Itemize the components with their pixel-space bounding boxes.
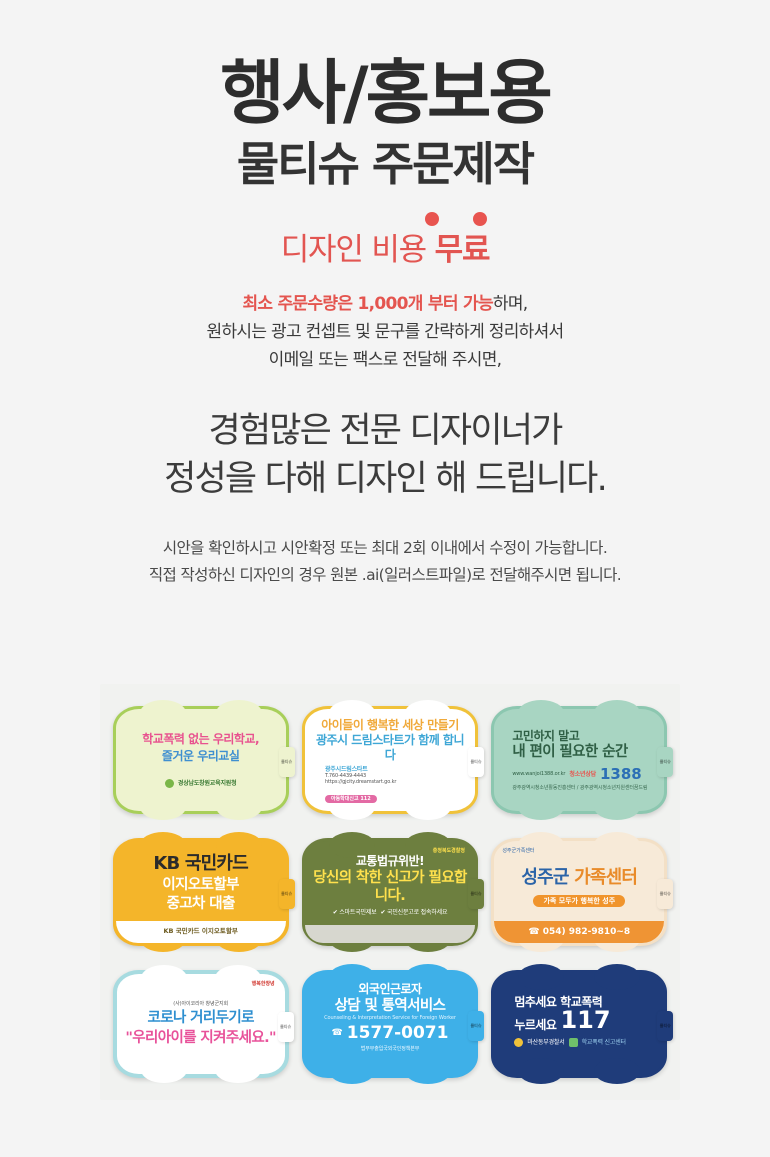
pack-tab-icon: 물티슈 <box>279 747 295 777</box>
gallery-cell: 물티슈 충청북도경찰청 교통법규위반! 당신의 착한 신고가 필요합니다. ✔ … <box>295 826 484 958</box>
card-org-badge: 충청북도경찰청 <box>433 848 465 854</box>
card-org: 법무부출입국외국인정책본부 <box>313 1046 467 1052</box>
card-title-line2: 중고차 대출 <box>124 896 278 913</box>
pitch-line-1: 경험많은 전문 디자이너가 <box>0 408 770 456</box>
card-title-line1: 아이들이 행복한 세상 만들기 <box>313 718 467 732</box>
card-url: www.wanjoi1388.or.kr <box>512 771 565 777</box>
pack-tab-icon: 물티슈 <box>468 747 484 777</box>
hero-section: 행사/홍보용 물티슈 주문제작 <box>0 0 770 188</box>
card-check-1: ✔ 스마트국민제보 <box>333 909 377 916</box>
card-title-line1: 이지오토할부 <box>124 877 278 894</box>
spec-min-order-highlight: 최소 주문수량은 1,000개 부터 가능 <box>242 294 492 314</box>
card-title-line1: 코로나 거리두기로 <box>125 1010 277 1027</box>
gallery-cell: 물티슈 KB 국민카드 이지오토할부 중고차 대출 KB 국민카드 이지오토할부 <box>106 826 295 958</box>
promo-page: 행사/홍보용 물티슈 주문제작 디자인 비용 무료 최소 주문수량은 1,000… <box>0 0 770 1157</box>
footnote-line-1: 시안을 확인하시고 시안확정 또는 최대 2회 이내에서 수정이 가능합니다. <box>0 535 770 562</box>
card-title-line1: 외국인근로자 <box>313 982 467 996</box>
product-card-school-violence-gyeongnam[interactable]: 물티슈 학교폭력 없는 우리학교, 즐거운 우리교실 경상남도창원교육지원청 <box>113 706 289 814</box>
card-title-line2: 내 편이 필요한 순간 <box>512 744 656 761</box>
pack-tab-icon: 물티슈 <box>278 1012 294 1042</box>
card-subtitle-en: Counseling & Interpretation Service for … <box>313 1015 467 1021</box>
footnote-paragraph: 시안을 확인하시고 시안확정 또는 최대 2회 이내에서 수정이 가능합니다. … <box>0 535 770 588</box>
sample-gallery-grid: 물티슈 학교폭력 없는 우리학교, 즐거운 우리교실 경상남도창원교육지원청 <box>100 684 680 1100</box>
card-title-line2: 누르세요 <box>514 1018 556 1032</box>
card-url: https://gjcity.dreamstart.go.kr <box>325 779 467 785</box>
card-title-line2: 상담 및 통역서비스 <box>313 998 467 1015</box>
free-design-line: 디자인 비용 무료 <box>281 232 490 269</box>
card-phone: 1577-0071 <box>347 1023 449 1043</box>
gallery-cell: 물티슈 아이들이 행복한 세상 만들기 광주시 드림스타트가 함께 합니다 광주… <box>295 694 484 826</box>
card-org: 광주시드림스타트 <box>325 766 467 773</box>
card-badge: 행복한창녕 <box>252 981 275 987</box>
card-title-line1: 고민하지 말고 <box>512 729 656 743</box>
card-brand: 청소년상담 <box>569 771 596 778</box>
free-design-block: 디자인 비용 무료 <box>0 232 770 269</box>
card-phone: ☎ 054) 982-9810~8 <box>528 927 630 938</box>
pitch-line-2: 정성을 다해 디자인 해 드립니다. <box>0 456 770 504</box>
gallery-cell: 물티슈 멈추세요 학교폭력 누르세요 117 마산동부경찰서 학교폭력 신고센터 <box>485 958 674 1090</box>
pack-tab-icon: 물티슈 <box>657 1011 673 1041</box>
card-title-line1: 교통법규위반! <box>313 854 467 868</box>
card-brand: KB 국민카드 <box>124 853 278 875</box>
pitch-paragraph: 경험많은 전문 디자이너가 정성을 다해 디자인 해 드립니다. <box>0 408 770 503</box>
pack-tab-icon: 물티슈 <box>657 879 673 909</box>
free-design-strong: 무료 <box>435 232 490 268</box>
org-logo-icon <box>165 779 174 788</box>
police-logo-icon <box>514 1038 523 1047</box>
card-title-line1: 학교폭력 없는 우리학교, <box>124 732 278 746</box>
spec-line-2: 원하시는 광고 컨셉트 및 문구를 간략하게 정리하셔서 <box>0 319 770 347</box>
gallery-cell: 물티슈 행복한창녕 (사)아이코리아 창녕군지회 코로나 거리두기로 "우리아이… <box>106 958 295 1090</box>
pack-tab-icon: 물티슈 <box>468 1011 484 1041</box>
card-road-strip <box>305 925 475 943</box>
spec-paragraph: 최소 주문수량은 1,000개 부터 가능하며, 원하시는 광고 컨셉트 및 문… <box>0 291 770 374</box>
card-org-2: 학교폭력 신고센터 <box>582 1039 626 1046</box>
card-phone-strip: ☎ 054) 982-9810~8 <box>494 921 664 943</box>
spec-line-3: 이메일 또는 팩스로 전달해 주시면, <box>0 347 770 375</box>
card-footer-org: 광주광역시청소년활동진흥센터 / 광주광역시청소년지원센터꿈드림 <box>512 785 656 791</box>
gallery-cell: 물티슈 성주군가족센터 성주군 가족센터 가족 모두가 행복한 성주 ☎ 054… <box>485 826 674 958</box>
card-hotline-number: 117 <box>560 1010 610 1032</box>
pack-tab-icon: 물티슈 <box>468 879 484 909</box>
spec-line-1: 최소 주문수량은 1,000개 부터 가능하며, <box>0 291 770 319</box>
free-design-lead: 디자인 비용 <box>281 232 435 268</box>
card-title: 성주군 가족센터 <box>502 867 656 889</box>
product-card-seongju-family-center[interactable]: 물티슈 성주군가족센터 성주군 가족센터 가족 모두가 행복한 성주 ☎ 054… <box>491 838 667 946</box>
page-subtitle: 물티슈 주문제작 <box>0 140 770 188</box>
product-card-youth-1388[interactable]: 물티슈 고민하지 말고 내 편이 필요한 순간 www.wanjoi1388.o… <box>491 706 667 814</box>
card-footer-org: 경상남도창원교육지원청 <box>178 780 237 787</box>
pack-tab-icon: 물티슈 <box>279 879 295 909</box>
sample-gallery-panel: 물티슈 학교폭력 없는 우리학교, 즐거운 우리교실 경상남도창원교육지원청 <box>100 684 680 1100</box>
card-org-1: 마산동부경찰서 <box>527 1039 564 1046</box>
product-card-corona-childcare[interactable]: 물티슈 행복한창녕 (사)아이코리아 창녕군지회 코로나 거리두기로 "우리아이… <box>113 970 289 1078</box>
card-title-line2: 광주시 드림스타트가 함께 합니다 <box>313 733 467 762</box>
card-org: (사)아이코리아 창녕군지회 <box>125 1001 277 1007</box>
card-title-line2: 당신의 착한 신고가 필요합니다. <box>313 870 467 905</box>
product-card-117-school-violence[interactable]: 물티슈 멈추세요 학교폭력 누르세요 117 마산동부경찰서 학교폭력 신고센터 <box>491 970 667 1078</box>
card-hotline-number: 1388 <box>600 765 642 783</box>
card-check-2: ✔ 국민신문고로 접속하세요 <box>380 909 447 916</box>
page-title: 행사/홍보용 <box>0 58 770 128</box>
card-org-badge: 성주군가족센터 <box>502 848 534 854</box>
card-pill: 가족 모두가 행복한 성주 <box>533 895 625 907</box>
card-pill: 아동학대신고 112 <box>325 795 377 803</box>
card-bottom-strip: KB 국민카드 이지오토할부 <box>116 921 286 943</box>
card-title-line2: "우리아이를 지켜주세요." <box>125 1030 277 1047</box>
report-center-logo-icon <box>569 1038 578 1047</box>
product-card-traffic-report[interactable]: 물티슈 충청북도경찰청 교통법규위반! 당신의 착한 신고가 필요합니다. ✔ … <box>302 838 478 946</box>
footnote-line-2: 직접 작성하신 디자인의 경우 원본 .ai(일러스트파일)로 전달해주시면 됩… <box>0 562 770 589</box>
free-design-strong-text: 무료 <box>435 232 490 268</box>
pack-tab-icon: 물티슈 <box>657 747 673 777</box>
gallery-cell: 물티슈 학교폭력 없는 우리학교, 즐거운 우리교실 경상남도창원교육지원청 <box>106 694 295 826</box>
phone-icon: ☎ <box>332 1028 343 1039</box>
card-strip-text: KB 국민카드 이지오토할부 <box>163 928 237 936</box>
card-title-line2: 즐거운 우리교실 <box>124 749 278 763</box>
gallery-cell: 물티슈 외국인근로자 상담 및 통역서비스 Counseling & Inter… <box>295 958 484 1090</box>
product-card-foreign-worker-hotline[interactable]: 물티슈 외국인근로자 상담 및 통역서비스 Counseling & Inter… <box>302 970 478 1078</box>
spec-line1-tail: 하며, <box>493 294 528 314</box>
emphasis-dots-icon <box>425 212 487 226</box>
product-card-gwangju-dreamstart[interactable]: 물티슈 아이들이 행복한 세상 만들기 광주시 드림스타트가 함께 합니다 광주… <box>302 706 478 814</box>
product-card-kb-kookmin[interactable]: 물티슈 KB 국민카드 이지오토할부 중고차 대출 KB 국민카드 이지오토할부 <box>113 838 289 946</box>
gallery-cell: 물티슈 고민하지 말고 내 편이 필요한 순간 www.wanjoi1388.o… <box>485 694 674 826</box>
